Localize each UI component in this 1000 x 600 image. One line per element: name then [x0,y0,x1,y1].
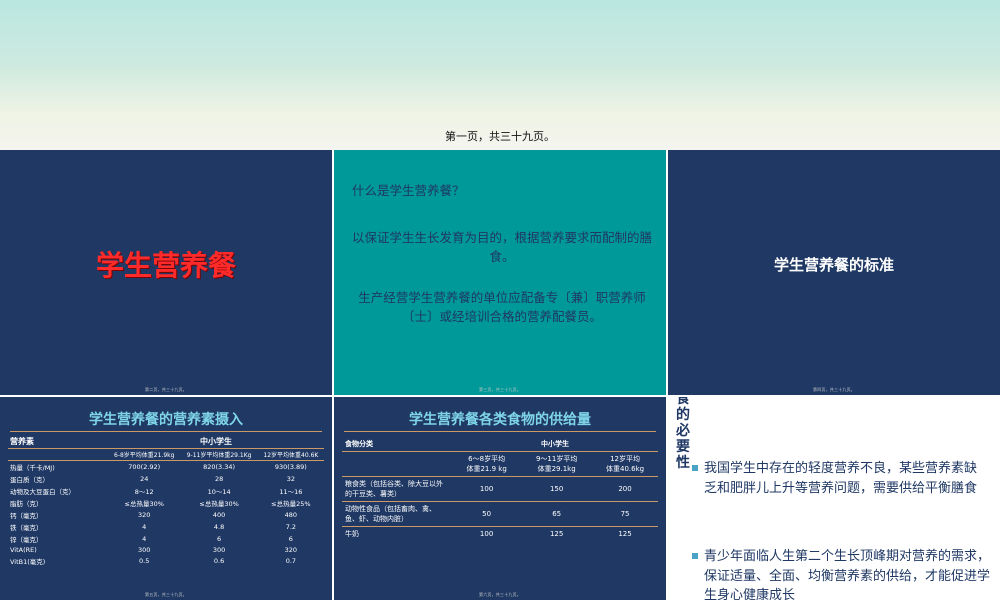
table-row: 6-8岁平均体重21.9kg 9-11岁平均体重29.1Kg 12岁平均体重40… [8,449,324,461]
slide-thumbnail-definition[interactable]: 什么是学生营养餐？ 以保证学生生长发育为目的，根据营养要求而配制的膳食。 生产经… [334,150,666,395]
cell: 6 [258,533,324,545]
cell: 100 [452,527,521,542]
row-label: VitB1(毫克) [8,555,108,567]
row-label: 钙（毫克） [8,509,108,521]
table-row: 6～8岁平均 体重21.9 kg 9～11岁平均 体重29.1kg 12岁平均 … [342,452,658,477]
cell: 300 [108,545,180,555]
table-row: 铁（毫克） 4 4.8 7.2 [8,521,324,533]
cell: 150 [521,477,592,502]
subheader-2: 12岁平均体重40.6K [258,449,324,461]
cell: 4 [108,533,180,545]
subheader-line: 12岁平均 [595,454,655,464]
cell: 10～14 [180,485,257,497]
cell: 6 [180,533,257,545]
cell: 50 [452,502,521,527]
slide-thumbnail-necessity[interactable]: 食的必要性 我国学生中存在的轻度营养不良，某些营养素缺乏和肥胖儿上升等营养问题，… [668,397,1000,600]
cell: 0.7 [258,555,324,567]
slide-footer: 第六页，共三十九页。 [334,592,666,598]
subheader-1: 9～11岁平均 体重29.1kg [521,452,592,477]
cell: ≤总热量30% [180,497,257,509]
table-row: 食物分类 中小学生 [342,437,658,452]
row-label: 动物及大豆蛋白（克） [8,485,108,497]
slide-footer: 第三页，共三十九页。 [334,387,666,393]
subheader-line: 6～8岁平均 [455,454,518,464]
row-label: 牛奶 [342,527,452,542]
slide-footer: 第四页，共三十九页。 [668,387,1000,393]
cell: 400 [180,509,257,521]
row-label: VitA(RE) [8,545,108,555]
slide-footer: 第二页，共三十九页。 [0,387,332,393]
cell: 32 [258,473,324,485]
nutrient-intake-table: 营养素 中小学生 6-8岁平均体重21.9kg 9-11岁平均体重29.1Kg … [8,435,324,567]
cell: 320 [258,545,324,555]
square-bullet-icon [692,553,698,559]
bullet-item: 我国学生中存在的轻度营养不良，某些营养素缺乏和肥胖儿上升等营养问题，需要供给平衡… [692,459,988,498]
subheader-2: 12岁平均 体重40.6kg [592,452,658,477]
cell: 820(3.34) [180,461,257,474]
table-row: 动物性食品（包括畜肉、禽、鱼、虾、动物内脏） 50 65 75 [342,502,658,527]
definition-question: 什么是学生营养餐？ [352,182,652,200]
row-label: 粮食类（包括谷类、除大豆以外的干豆类、薯类） [342,477,452,502]
subheader-line: 体重29.1kg [524,464,589,474]
table-row: 营养素 中小学生 [8,435,324,449]
table-row: 动物及大豆蛋白（克） 8～12 10～14 11～16 [8,485,324,497]
cell: 100 [452,477,521,502]
bullet-text: 我国学生中存在的轻度营养不良，某些营养素缺乏和肥胖儿上升等营养问题，需要供给平衡… [704,459,988,498]
slide-footer: 第五页，共三十九页。 [0,592,332,598]
spacer-cell [8,449,108,461]
row-label: 锌（毫克） [8,533,108,545]
table-row: 牛奶 100 125 125 [342,527,658,542]
cell: 480 [258,509,324,521]
bullet-item: 青少年面临人生第二个生长顶峰期对营养的需求，保证适量、全面、均衡营养素的供给，才… [692,547,992,600]
cell: 11～16 [258,485,324,497]
food-supply-title: 学生营养餐各类食物的供给量 [334,409,666,429]
cell: ≤总热量25% [258,497,324,509]
top-banner: 第一页，共三十九页。 [0,0,1000,150]
cell: 0.5 [108,555,180,567]
slide-title-text: 学生营养餐 [0,244,332,284]
table-row: 钙（毫克） 320 400 480 [8,509,324,521]
subheader-0: 6～8岁平均 体重21.9 kg [452,452,521,477]
cell: 7.2 [258,521,324,533]
subheader-1: 9-11岁平均体重29.1Kg [180,449,257,461]
necessity-vertical-title: 食的必要性 [672,397,694,471]
col0-header: 食物分类 [342,437,452,452]
page-footer-top: 第一页，共三十九页。 [0,128,1000,144]
cell: 125 [592,527,658,542]
cell: 28 [180,473,257,485]
group-header: 中小学生 [108,435,324,449]
cell: 700(2.92) [108,461,180,474]
definition-paragraph-2: 生产经营学生营养餐的单位应配备专〔兼〕职营养师〔士〕或经培训合格的营养配餐员。 [348,288,656,327]
table-row: 脂肪（克） ≤总热量30% ≤总热量30% ≤总热量25% [8,497,324,509]
subheader-line: 体重21.9 kg [455,464,518,474]
slide-thumbnail-food-supply[interactable]: 学生营养餐各类食物的供给量 食物分类 中小学生 6～8岁平均 体重21.9 kg… [334,397,666,600]
subheader-0: 6-8岁平均体重21.9kg [108,449,180,461]
cell: 24 [108,473,180,485]
cell: 4.8 [180,521,257,533]
table-row: 粮食类（包括谷类、除大豆以外的干豆类、薯类） 100 150 200 [342,477,658,502]
group-header: 中小学生 [452,437,658,452]
title-divider [344,431,656,432]
cell: 200 [592,477,658,502]
table-row: VitB1(毫克) 0.5 0.6 0.7 [8,555,324,567]
cell: 0.6 [180,555,257,567]
food-supply-table: 食物分类 中小学生 6～8岁平均 体重21.9 kg 9～11岁平均 体重29.… [342,437,658,541]
table-row: 锌（毫克） 4 6 6 [8,533,324,545]
definition-paragraph-1: 以保证学生生长发育为目的，根据营养要求而配制的膳食。 [352,228,652,267]
slide-thumbnail-nutrient-intake[interactable]: 学生营养餐的营养素摄入 营养素 中小学生 6-8岁平均体重21.9kg 9-11… [0,397,332,600]
table-row: 热量（千卡/MJ) 700(2.92) 820(3.34) 930(3.89) [8,461,324,474]
bullet-text: 青少年面临人生第二个生长顶峰期对营养的需求，保证适量、全面、均衡营养素的供给，才… [704,547,992,600]
col0-header: 营养素 [8,435,108,449]
row-label: 铁（毫克） [8,521,108,533]
cell: ≤总热量30% [108,497,180,509]
cell: 8～12 [108,485,180,497]
table-row: VitA(RE) 300 300 320 [8,545,324,555]
row-label: 动物性食品（包括畜肉、禽、鱼、虾、动物内脏） [342,502,452,527]
cell: 4 [108,521,180,533]
cell: 320 [108,509,180,521]
table-row: 蛋白质（克） 24 28 32 [8,473,324,485]
standard-title-text: 学生营养餐的标准 [668,254,1000,275]
cell: 300 [180,545,257,555]
slide-thumbnail-standard[interactable]: 学生营养餐的标准 第四页，共三十九页。 [668,150,1000,395]
subheader-line: 体重40.6kg [595,464,655,474]
cell: 930(3.89) [258,461,324,474]
slide-thumbnail-title[interactable]: 学生营养餐 第二页，共三十九页。 [0,150,332,395]
square-bullet-icon [692,465,698,471]
row-label: 脂肪（克） [8,497,108,509]
cell: 75 [592,502,658,527]
subheader-line: 9～11岁平均 [524,454,589,464]
row-label: 热量（千卡/MJ) [8,461,108,474]
row-label: 蛋白质（克） [8,473,108,485]
cell: 125 [521,527,592,542]
title-divider [10,431,322,432]
cell: 65 [521,502,592,527]
spacer-cell [342,452,452,477]
nutrient-intake-title: 学生营养餐的营养素摄入 [0,409,332,429]
